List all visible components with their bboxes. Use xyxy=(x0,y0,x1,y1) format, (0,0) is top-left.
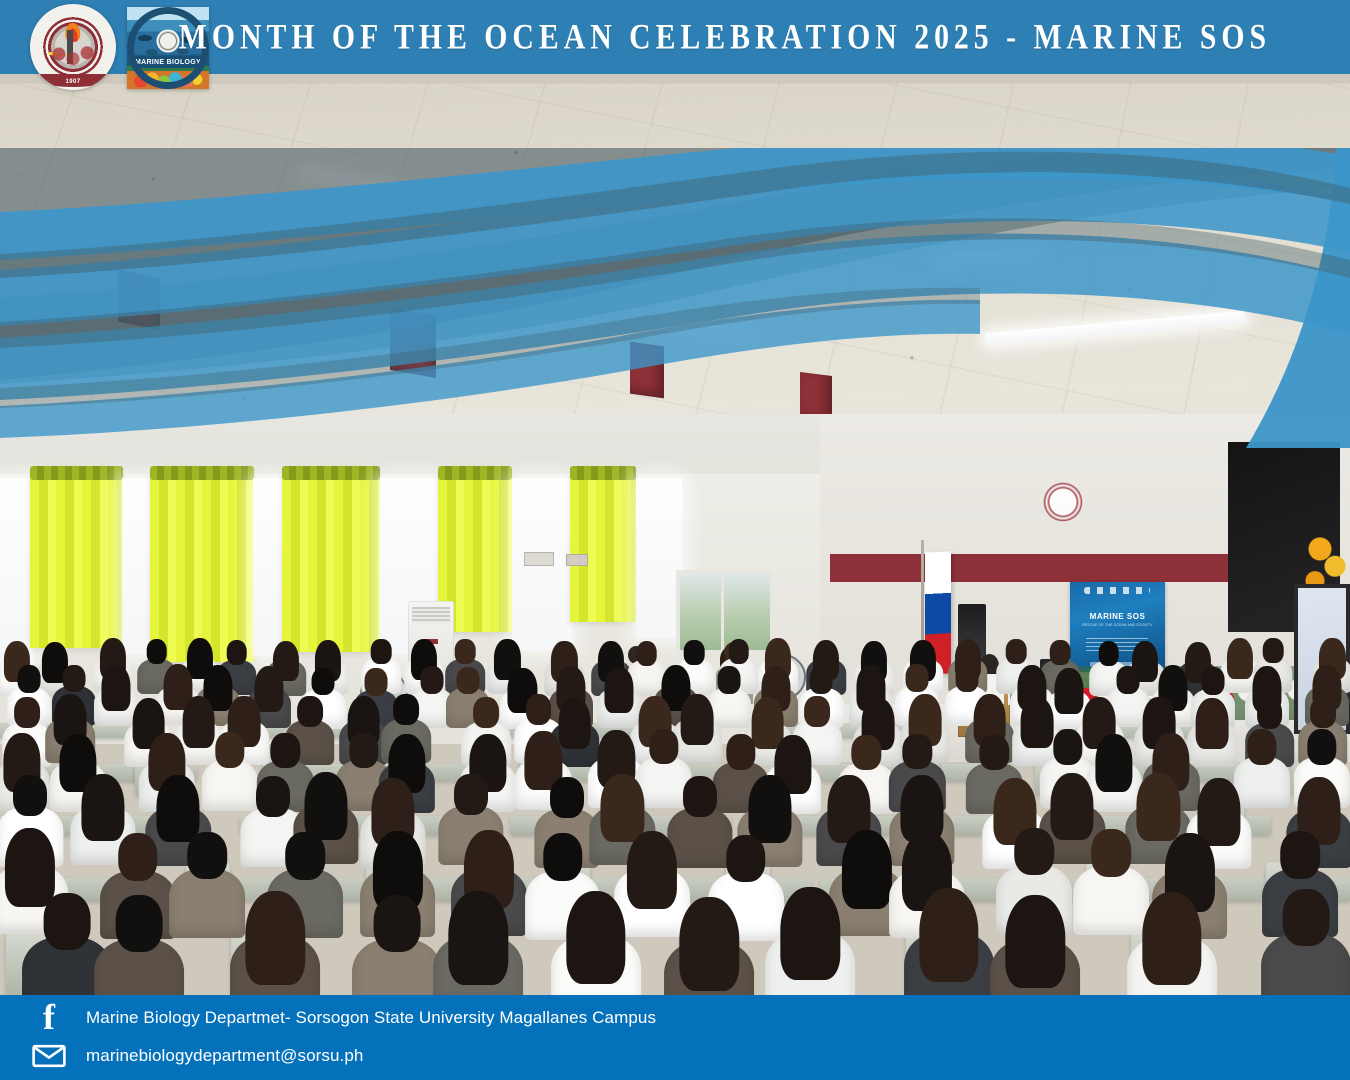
hair xyxy=(1283,889,1330,946)
hair xyxy=(1006,895,1065,989)
banner-subtitle: RESCUE OF THE OCEAN AND SOCIETY xyxy=(1070,623,1165,627)
hair xyxy=(394,694,420,725)
sheer-curtain xyxy=(253,478,283,656)
hair xyxy=(271,733,300,768)
ceiling-bracket xyxy=(390,308,436,378)
hair xyxy=(680,897,739,991)
hair xyxy=(566,891,625,985)
hair xyxy=(365,668,388,696)
footer-contact-facebook[interactable]: f Marine Biology Departmet- Sorsogon Sta… xyxy=(26,1003,656,1033)
hair xyxy=(146,639,167,664)
facebook-page-label: Marine Biology Departmet- Sorsogon State… xyxy=(86,1008,656,1028)
hair xyxy=(1310,697,1336,728)
wall-box xyxy=(524,552,554,566)
hair xyxy=(1201,667,1224,695)
hair xyxy=(1098,641,1119,666)
footer-contact-email[interactable]: marinebiologydepartment@sorsu.ph xyxy=(26,1041,364,1071)
ceiling-bracket xyxy=(118,270,160,331)
banner-logo-strip xyxy=(1084,587,1150,594)
ceiling-bracket xyxy=(630,342,664,399)
hair xyxy=(1257,698,1283,729)
hair xyxy=(118,833,158,881)
header-bar: 1907 MARINE BIOLOGY MONTH OF THE OCEAN C… xyxy=(0,0,1350,74)
hair xyxy=(63,665,86,693)
audience-member xyxy=(230,891,320,995)
hair xyxy=(371,639,392,664)
hair xyxy=(683,776,717,817)
hair xyxy=(718,666,741,694)
poster-root: MARINE SOS RESCUE OF THE OCEAN AND SOCIE… xyxy=(0,0,1350,1080)
hair xyxy=(81,774,124,842)
hair xyxy=(1263,638,1284,663)
hair xyxy=(980,735,1009,770)
hair xyxy=(457,667,480,695)
audience-member xyxy=(766,887,856,995)
hair xyxy=(726,734,755,769)
envelope-icon[interactable] xyxy=(26,1041,72,1071)
hair xyxy=(449,891,508,985)
hair xyxy=(420,666,443,694)
hair xyxy=(1015,828,1055,876)
hair xyxy=(726,835,766,883)
hair xyxy=(13,775,47,816)
hair xyxy=(1247,729,1276,764)
hair xyxy=(919,888,978,982)
audience xyxy=(0,634,1350,995)
audience-member xyxy=(551,891,641,995)
hair xyxy=(1053,729,1082,764)
audience-member xyxy=(433,891,523,995)
footer-bar: f Marine Biology Departmet- Sorsogon Sta… xyxy=(0,995,1350,1080)
hair xyxy=(1280,831,1320,879)
sheer-curtain xyxy=(122,478,152,654)
audience-member xyxy=(353,895,443,995)
hair xyxy=(297,696,323,727)
wall-box xyxy=(566,554,588,566)
banner-title: MARINE SOS xyxy=(1070,612,1165,621)
hair xyxy=(304,772,347,840)
hair xyxy=(804,696,830,727)
event-photo: MARINE SOS RESCUE OF THE OCEAN AND SOCIE… xyxy=(0,74,1350,995)
wall-seal-icon xyxy=(1043,482,1083,522)
green-curtain xyxy=(282,472,380,652)
audience-member xyxy=(95,895,185,995)
hair xyxy=(116,895,163,952)
hair xyxy=(684,640,705,665)
hair xyxy=(455,639,476,664)
hair xyxy=(1116,666,1139,694)
hair xyxy=(454,774,488,815)
hair xyxy=(43,893,90,950)
page-title: MONTH OF THE OCEAN CELEBRATION 2025 - MA… xyxy=(27,0,1323,80)
hair xyxy=(810,666,833,694)
hair xyxy=(286,832,326,880)
email-address-label: marinebiologydepartment@sorsu.ph xyxy=(86,1046,364,1066)
hair xyxy=(543,833,583,881)
green-curtain xyxy=(570,472,636,622)
audience-member xyxy=(990,895,1080,995)
hair xyxy=(14,697,40,728)
hair xyxy=(473,697,499,728)
hair xyxy=(1091,829,1131,877)
hair xyxy=(246,891,305,985)
hair xyxy=(256,776,290,817)
hair xyxy=(550,777,584,818)
hair xyxy=(215,732,244,767)
green-curtain xyxy=(30,472,123,648)
hair xyxy=(1050,640,1071,665)
hair xyxy=(1196,698,1229,749)
hair xyxy=(903,734,932,769)
maroon-wall-stripe xyxy=(830,554,1230,582)
hair xyxy=(1142,892,1201,986)
hair xyxy=(526,694,552,725)
facebook-icon[interactable]: f xyxy=(26,1003,72,1033)
hair xyxy=(1307,729,1336,764)
audience-member xyxy=(665,897,755,995)
hair xyxy=(636,641,657,666)
hair xyxy=(781,887,840,981)
hair xyxy=(649,729,678,764)
hair xyxy=(18,665,41,693)
hair xyxy=(188,832,228,880)
hair xyxy=(852,735,881,770)
hair xyxy=(955,664,978,692)
hair xyxy=(728,639,749,664)
hair xyxy=(227,640,248,665)
hair xyxy=(374,895,421,952)
hair xyxy=(349,733,378,768)
hair xyxy=(1006,639,1027,664)
hair xyxy=(748,775,791,843)
audience-member xyxy=(1127,892,1217,995)
hair xyxy=(906,664,929,692)
audience-member xyxy=(1261,889,1350,995)
audience-member xyxy=(904,888,994,995)
hair xyxy=(312,668,335,696)
